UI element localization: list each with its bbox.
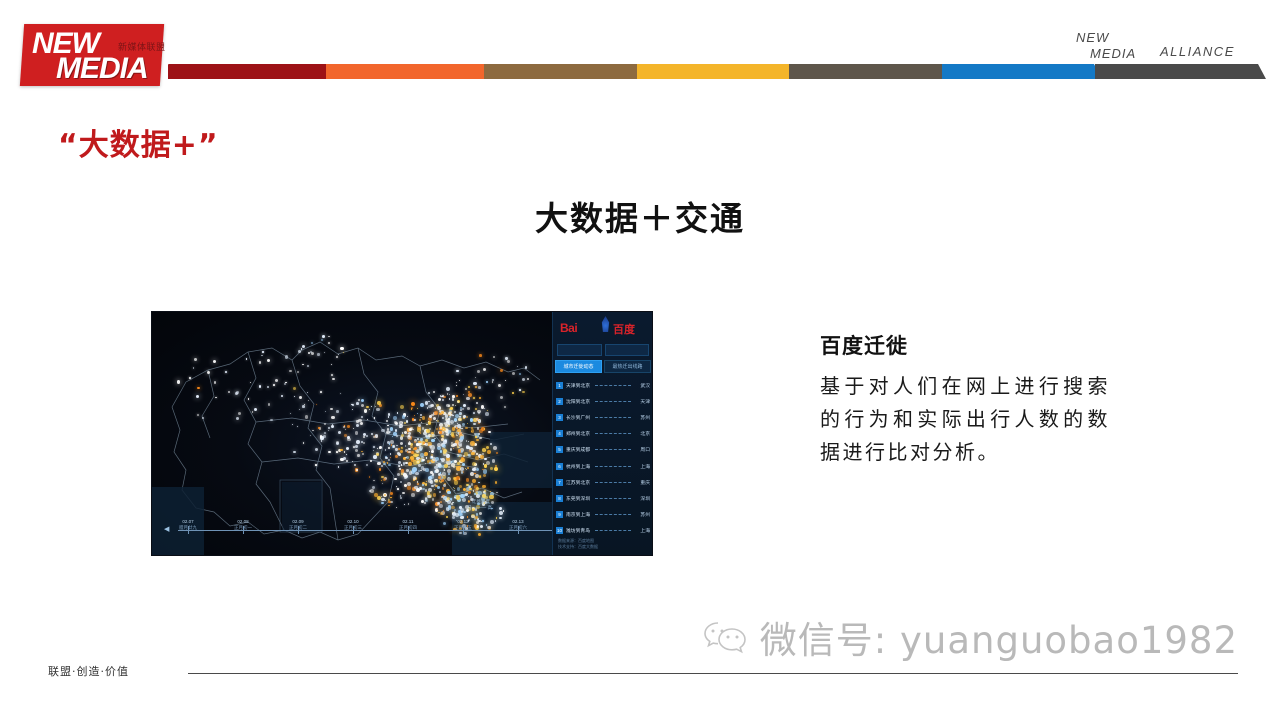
map-data-point [328, 427, 330, 429]
map-data-point [322, 335, 325, 338]
map-data-point [414, 447, 417, 450]
map-data-point [478, 386, 481, 389]
map-data-point [442, 487, 445, 490]
map-data-point [434, 411, 438, 415]
map-data-point [355, 445, 358, 448]
map-data-point [473, 423, 476, 426]
map-data-point [441, 435, 443, 437]
map-data-point [452, 427, 456, 431]
map-data-point [429, 445, 432, 448]
map-data-point [405, 462, 408, 465]
list-item[interactable]: 8东莞到深圳深圳 [556, 490, 650, 506]
map-data-point [405, 445, 407, 447]
map-data-point [413, 453, 417, 457]
map-data-point [366, 406, 369, 409]
map-data-point [381, 498, 385, 502]
map-data-point [324, 423, 326, 425]
map-data-point [476, 487, 479, 490]
rank-badge: 5 [556, 446, 563, 453]
connector [595, 401, 631, 402]
map-data-point [399, 421, 403, 425]
connector [595, 433, 631, 434]
map-data-point [476, 418, 478, 420]
map-data-point [494, 467, 498, 471]
map-data-point [393, 416, 397, 420]
map-data-point [328, 430, 329, 431]
map-data-point [317, 353, 319, 355]
map-data-point [320, 435, 323, 438]
map-data-point [476, 402, 478, 404]
tab-city-dynamics[interactable]: 城市迁徙动态 [555, 360, 602, 373]
map-data-point [484, 464, 487, 467]
map-data-point [386, 420, 388, 422]
map-data-point [259, 361, 261, 363]
map-data-point [408, 448, 411, 451]
map-data-point [446, 387, 450, 391]
map-data-point [439, 504, 443, 508]
section-kicker: “大数据+” [58, 120, 219, 164]
map-data-point [259, 385, 262, 388]
map-data-point [321, 339, 323, 341]
map-data-point [399, 468, 401, 470]
map-data-point [412, 418, 415, 421]
timeline-tick-label: 02.08正月初一 [234, 519, 252, 531]
sidebar-tabs: 城市迁徙动态 最热迁出线路 [555, 360, 651, 373]
map-data-point [214, 381, 217, 384]
map-data-point [441, 411, 443, 413]
connector [595, 482, 631, 483]
map-data-point [407, 486, 411, 490]
map-data-point [454, 497, 455, 498]
list-item[interactable]: 3长沙到广州苏州 [556, 409, 650, 425]
map-data-point [411, 493, 415, 497]
route-label: 天津到北京 [566, 382, 592, 389]
map-data-point [356, 440, 360, 444]
map-data-point [404, 422, 406, 424]
route-label: 杭州到上海 [566, 463, 592, 470]
rank-badge: 6 [556, 463, 563, 470]
map-data-point [387, 428, 390, 431]
connector [595, 449, 631, 450]
map-data-point [432, 498, 435, 501]
page-title: 大数据＋交通 [0, 192, 1280, 240]
map-data-point [465, 427, 468, 430]
timeline-tick-label: 02.07腊月廿九 [179, 519, 197, 531]
footer-slogan: 联盟·创造·价值 [48, 663, 129, 679]
map-data-point [371, 406, 372, 407]
map-data-point [472, 468, 475, 471]
connector [595, 466, 631, 467]
map-data-point [340, 347, 343, 350]
city-label: 苏州 [634, 511, 650, 518]
map-data-point [383, 463, 386, 466]
map-data-point [444, 469, 446, 471]
map-data-point [310, 435, 311, 436]
map-data-point [486, 381, 488, 383]
map-data-point [472, 479, 476, 483]
baidu-sidebar: Bai 百度 城市迁徙动态 最热迁出线路 1天津到北京武汉2沈阳到北京天津3长沙… [552, 312, 653, 555]
map-data-point [435, 460, 437, 462]
map-data-point [395, 455, 398, 458]
city-label: 深圳 [634, 495, 650, 502]
map-data-point [482, 469, 484, 471]
map-data-point [373, 446, 374, 447]
map-data-point [467, 516, 469, 518]
route-label: 江苏到北京 [566, 479, 592, 486]
map-data-point [461, 471, 464, 474]
map-data-point [438, 476, 442, 480]
map-data-point [406, 469, 409, 472]
map-data-point [324, 432, 326, 434]
map-data-point [428, 479, 432, 483]
map-data-point [302, 364, 304, 366]
map-data-point [369, 476, 370, 477]
city-label: 周口 [634, 446, 650, 453]
map-data-point [479, 429, 483, 433]
legend-title: 迁徙热度 [472, 499, 490, 504]
header-new-label: NEW [1076, 30, 1136, 46]
map-data-point [463, 404, 466, 407]
map-data-point [346, 447, 349, 450]
map-data-point [401, 447, 402, 448]
map-data-point [475, 436, 477, 438]
map-data-point [421, 500, 424, 503]
map-data-point [425, 483, 428, 486]
wechat-icon [702, 617, 748, 657]
map-data-point [385, 449, 386, 450]
map-data-point [388, 464, 391, 467]
map-data-point [320, 391, 322, 393]
map-data-point [437, 486, 440, 489]
map-data-point [450, 498, 452, 500]
map-data-point [459, 495, 460, 496]
map-data-point [371, 433, 373, 435]
map-data-point [463, 488, 467, 492]
rank-badge: 10 [556, 527, 563, 534]
map-data-point [394, 421, 397, 424]
route-label: 沈阳到北京 [566, 398, 592, 405]
map-data-point [442, 472, 446, 476]
color-bar-segment-orange [326, 64, 484, 79]
map-data-point [408, 451, 411, 454]
map-data-point [275, 379, 278, 382]
map-data-point [454, 411, 456, 413]
description-block: 百度迁徙 基于对人们在网上进行搜索的行为和实际出行人数的数据进行比对分析。 [820, 330, 1110, 469]
map-data-point [347, 438, 350, 441]
map-data-point [496, 492, 498, 494]
city-label: 苏州 [634, 414, 650, 421]
map-data-point [387, 425, 389, 427]
map-data-point [418, 464, 421, 467]
map-data-point [448, 466, 450, 468]
map-data-point [519, 389, 521, 391]
list-item[interactable]: 9南京到上海苏州 [556, 507, 650, 523]
legend-high: 高 [488, 505, 493, 510]
map-data-point [328, 336, 329, 337]
map-data-point [425, 468, 429, 472]
map-data-point [285, 355, 289, 359]
map-data-point [451, 506, 455, 510]
header-media-label: MEDIA [1090, 46, 1136, 62]
map-data-point [470, 441, 475, 446]
map-data-point [308, 400, 309, 401]
map-data-point [411, 402, 415, 406]
map-data-point [406, 420, 408, 422]
map-data-point [347, 425, 350, 428]
map-data-point [390, 427, 394, 431]
list-item[interactable]: 6杭州到上海上海 [556, 458, 650, 474]
map-data-point [446, 454, 450, 458]
map-data-point [356, 420, 358, 422]
map-data-point [426, 457, 428, 459]
map-data-point [301, 348, 303, 350]
map-data-point [373, 455, 377, 459]
map-data-point [215, 397, 216, 398]
map-data-point [453, 448, 454, 449]
city-label: 上海 [634, 463, 650, 470]
map-data-point [343, 426, 345, 428]
map-data-point [225, 371, 227, 373]
map-data-point [431, 485, 433, 487]
map-data-point [364, 409, 367, 412]
map-data-point [328, 342, 330, 344]
map-data-point [352, 461, 353, 462]
route-label: 重庆到成都 [566, 446, 592, 453]
map-data-point [495, 481, 498, 484]
map-data-point [377, 401, 381, 405]
map-data-point [476, 439, 478, 441]
map-data-point [298, 350, 301, 353]
rank-badge: 8 [556, 495, 563, 502]
search-input-right[interactable] [605, 344, 650, 356]
map-data-point [475, 474, 479, 478]
map-data-point [422, 484, 424, 486]
map-data-point [338, 466, 339, 467]
sidebar-footer: 数据来源：百度地图 技术支持：百度大数据 [558, 538, 598, 550]
map-data-point [451, 503, 452, 504]
baidu-logo: Bai 百度 [553, 312, 653, 344]
map-data-point [452, 512, 456, 516]
map-data-point [485, 412, 489, 416]
map-data-point [492, 459, 496, 463]
map-data-point [439, 413, 441, 415]
map-data-point [433, 493, 437, 497]
map-data-point [336, 410, 339, 413]
route-label: 东莞到深圳 [566, 495, 592, 502]
map-data-point [315, 464, 317, 466]
map-data-point [447, 491, 451, 495]
map-data-point [373, 480, 374, 481]
map-data-point [358, 399, 360, 401]
map-data-point [468, 391, 470, 393]
sidebar-footer-line2: 技术支持：百度大数据 [558, 544, 598, 550]
sidebar-search-row[interactable] [557, 344, 649, 357]
map-data-point [477, 410, 480, 413]
map-data-point [448, 454, 449, 455]
map-data-point [468, 491, 471, 494]
map-data-point [194, 358, 197, 361]
map-data-point [409, 429, 410, 430]
map-data-point [381, 496, 382, 497]
map-data-point [458, 442, 462, 446]
baidu-migration-screenshot: ✦ 迁徙热度 低 ——— 高 ◉ 全国概况 ❖ 迁徙地图 ⊘ 路况查询 ◎ 热点… [151, 311, 653, 556]
map-data-point [416, 443, 419, 446]
map-data-point [456, 473, 458, 475]
map-data-point [357, 454, 360, 457]
route-label: 长沙到广州 [566, 414, 592, 421]
list-item[interactable]: 2沈阳到北京天津 [556, 393, 650, 409]
color-bar-segment-dark-gray [1095, 64, 1259, 79]
logo-text-media: MEDIA [56, 52, 148, 86]
color-bar-segment-dark-red [168, 64, 326, 79]
map-data-point [373, 436, 375, 438]
route-label: 潍坊到青岛 [566, 527, 592, 534]
color-bar-segment-brown [484, 64, 637, 79]
map-data-point [425, 401, 428, 404]
timeline-tick-label: 02.13正月初六 [509, 519, 527, 531]
map-data-point [381, 502, 383, 504]
map-data-point [336, 451, 338, 453]
color-bar-segment-gold [637, 64, 790, 79]
list-item[interactable]: 10潍坊到青岛上海 [556, 523, 650, 539]
wechat-watermark-text: 微信号: yuanguobao1982 [760, 610, 1238, 664]
map-data-point [381, 429, 385, 433]
map-data-point [482, 485, 485, 488]
map-data-point [336, 442, 339, 445]
china-map: ✦ 迁徙热度 低 ——— 高 ◉ 全国概况 ❖ 迁徙地图 ⊘ 路况查询 ◎ 热点… [152, 312, 552, 555]
map-data-point [236, 417, 239, 420]
map-data-point [307, 365, 309, 367]
map-data-point [375, 434, 379, 438]
city-label: 武汉 [634, 382, 650, 389]
list-item[interactable]: 1天津到北京武汉 [556, 377, 650, 393]
map-data-point [369, 409, 370, 410]
map-data-point [468, 441, 469, 442]
search-input-left[interactable] [557, 344, 602, 356]
connector [595, 514, 631, 515]
map-data-point [431, 439, 435, 443]
rank-badge: 1 [556, 382, 563, 389]
connector [595, 530, 631, 531]
connector [595, 498, 631, 499]
map-data-point [396, 435, 397, 436]
timeline-prev-icon[interactable]: ◀ [164, 525, 169, 533]
rank-badge: 4 [556, 430, 563, 437]
slide-root: NEW MEDIA 新媒体联盟 NEW MEDIA ALLIANCE “大数据+… [0, 0, 1280, 720]
map-data-point [400, 442, 403, 445]
map-data-point [207, 371, 210, 374]
map-data-point [451, 434, 454, 437]
city-label: 重庆 [634, 479, 650, 486]
baidu-logo-text: Bai [560, 321, 577, 335]
map-data-point [270, 419, 273, 422]
tab-hot-routes[interactable]: 最热迁出线路 [604, 360, 651, 373]
map-data-point [448, 418, 449, 419]
map-data-point [448, 510, 449, 511]
description-heading: 百度迁徙 [820, 330, 1110, 360]
map-data-point [475, 386, 477, 388]
map-data-point [389, 443, 390, 444]
map-data-point [447, 469, 451, 473]
map-data-point [468, 386, 470, 388]
baidu-logo-cn: 百度 [613, 321, 635, 337]
city-label: 上海 [634, 527, 650, 534]
map-data-point [444, 464, 448, 468]
map-data-point [400, 405, 404, 409]
map-data-point [424, 452, 428, 456]
map-data-point [328, 451, 330, 453]
map-data-point [420, 403, 424, 407]
route-label: 南京到上海 [566, 511, 592, 518]
map-data-point [486, 446, 489, 449]
map-data-point [429, 462, 431, 464]
map-data-point [440, 450, 442, 452]
map-data-point [433, 391, 435, 393]
map-data-point [417, 481, 418, 482]
connector [595, 417, 631, 418]
map-data-point [461, 494, 465, 498]
map-data-point [430, 404, 433, 407]
map-data-point [414, 486, 418, 490]
footer-divider [188, 673, 1238, 674]
list-item[interactable]: 7江苏到北京重庆 [556, 474, 650, 490]
header-alliance-label: ALLIANCE [1160, 44, 1235, 59]
map-data-point [418, 424, 421, 427]
city-label: 北京 [634, 430, 650, 437]
map-data-point [360, 422, 363, 425]
map-data-point [413, 476, 416, 479]
map-data-point [177, 380, 180, 383]
map-data-point [250, 382, 251, 383]
map-data-point [456, 495, 460, 499]
map-data-point [452, 395, 455, 398]
map-data-point [417, 483, 419, 485]
map-data-point [475, 516, 478, 519]
list-item[interactable]: 4郑州到北京北京 [556, 426, 650, 442]
map-data-point [467, 407, 470, 410]
map-data-point [442, 444, 446, 448]
map-data-point [430, 435, 432, 437]
map-data-point [496, 517, 498, 519]
map-data-point [254, 408, 257, 411]
map-data-point [189, 377, 191, 379]
map-data-point [356, 402, 359, 405]
map-data-point [496, 452, 498, 454]
timeline-tick-label: 02.11正月初四 [399, 519, 417, 531]
map-data-point [403, 473, 407, 477]
map-data-point [481, 405, 485, 409]
timeline-tick-label: 02.09正月初二 [289, 519, 307, 531]
list-item[interactable]: 5重庆到成都周口 [556, 442, 650, 458]
brand-logo: NEW MEDIA 新媒体联盟 [22, 24, 172, 86]
map-data-point [450, 407, 452, 409]
map-data-point [408, 462, 412, 466]
map-data-point [409, 459, 410, 460]
map-data-point [370, 489, 374, 493]
map-data-point [197, 414, 199, 416]
map-data-point [351, 404, 352, 405]
map-data-point [429, 451, 430, 452]
header-new-media: NEW MEDIA [1076, 30, 1136, 62]
map-data-point [304, 404, 305, 405]
map-data-point [473, 412, 475, 414]
map-data-point [493, 446, 497, 450]
city-label: 天津 [634, 398, 650, 405]
map-data-point [293, 387, 296, 390]
map-data-point [482, 448, 486, 452]
map-data-point [324, 352, 325, 353]
map-data-point [344, 451, 345, 452]
